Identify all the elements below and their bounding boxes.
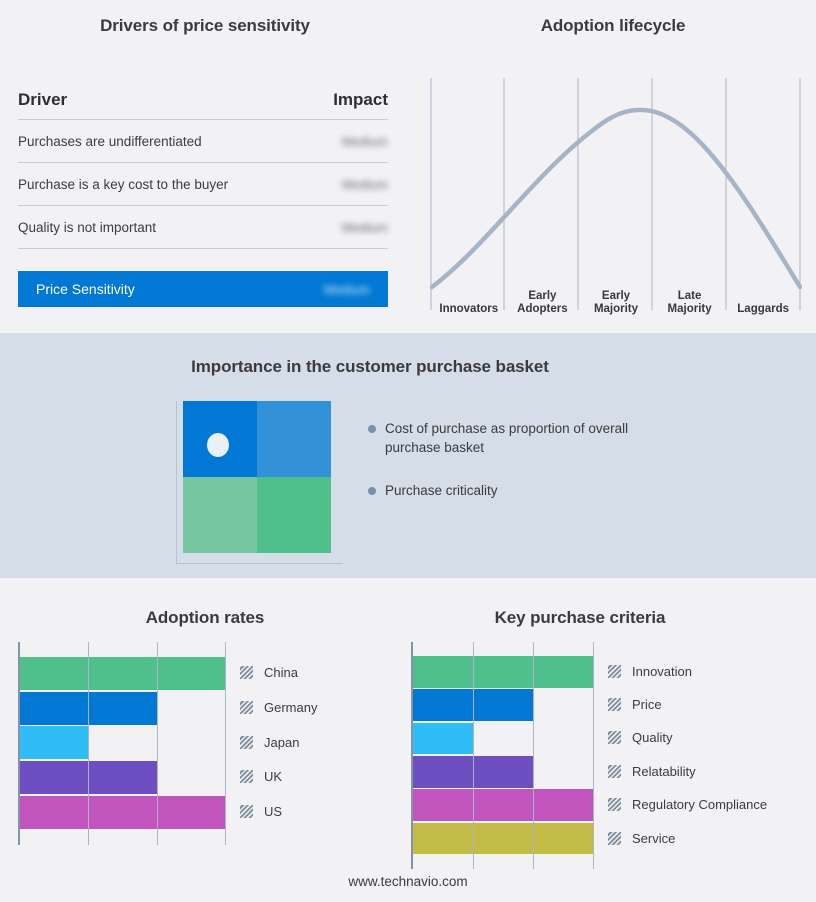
criteria-bars-layer — [413, 642, 591, 869]
drivers-table: Driver Impact Purchases are undifferenti… — [18, 90, 388, 249]
legend-swatch-icon — [608, 765, 621, 778]
adoption-bars-layer — [20, 642, 223, 845]
legend-item: Quality — [608, 730, 672, 745]
bar — [413, 789, 593, 821]
bell-curve-svg — [430, 78, 802, 310]
bar — [413, 823, 593, 855]
legend-item: US — [240, 804, 282, 819]
quadrant-chart-frame — [176, 401, 343, 564]
lifecycle-stage-early-adopters: EarlyAdopters — [506, 290, 580, 318]
legend-label: Japan — [264, 735, 299, 750]
column-header-driver: Driver — [18, 90, 308, 110]
impact-value: Medium — [308, 134, 388, 149]
quadrant-bottom-left — [183, 477, 257, 553]
driver-label: Purchase is a key cost to the buyer — [18, 177, 308, 192]
quadrant-marker-dot — [207, 433, 229, 457]
legend-item: UK — [240, 769, 282, 784]
quadrant-top-left — [183, 401, 257, 477]
summary-row-label: Price Sensitivity — [36, 281, 290, 297]
legend-label: Regulatory Compliance — [632, 797, 767, 812]
legend-label: UK — [264, 769, 282, 784]
quadrant-bottom-right — [257, 477, 331, 553]
price-sensitivity-summary-row: Price Sensitivity Medium — [18, 271, 388, 307]
gridline — [473, 642, 474, 869]
list-item: Cost of purchase as proportion of overal… — [368, 419, 658, 457]
stage-label-line: Laggards — [737, 303, 789, 315]
summary-row-impact: Medium — [290, 282, 370, 297]
legend-item: China — [240, 665, 298, 680]
criteria-plot-area — [411, 642, 591, 869]
adoption-lifecycle-panel: Adoption lifecycle Innovators EarlyAdopt… — [410, 0, 816, 333]
table-row: Purchases are undifferentiated Medium — [18, 120, 388, 163]
adoption-rates-panel: Adoption rates ChinaGermanyJapanUKUS — [0, 578, 410, 902]
bar — [20, 657, 225, 690]
driver-label: Purchases are undifferentiated — [18, 134, 308, 149]
legend-item: Price — [608, 697, 662, 712]
quadrant-grid — [183, 401, 331, 553]
driver-label: Quality is not important — [18, 220, 308, 235]
table-row: Quality is not important Medium — [18, 206, 388, 249]
drivers-table-header: Driver Impact — [18, 90, 388, 120]
impact-value: Medium — [308, 220, 388, 235]
legend-item: Regulatory Compliance — [608, 797, 767, 812]
legend-swatch-icon — [240, 736, 253, 749]
basket-legend-label: Cost of purchase as proportion of overal… — [385, 419, 641, 457]
gridline — [88, 642, 89, 845]
lifecycle-stage-innovators: Innovators — [432, 303, 506, 318]
criteria-legend: InnovationPriceQualityRelatabilityRegula… — [608, 642, 808, 869]
legend-label: Relatability — [632, 764, 696, 779]
bullet-dot-icon — [368, 425, 376, 433]
column-header-impact: Impact — [308, 90, 388, 110]
adoption-plot-area — [18, 642, 223, 845]
legend-label: US — [264, 804, 282, 819]
basket-panel-title: Importance in the customer purchase bask… — [0, 357, 740, 377]
legend-swatch-icon — [240, 805, 253, 818]
adoption-rates-chart — [18, 642, 223, 845]
adoption-curve — [432, 110, 800, 287]
gridline — [225, 642, 226, 845]
legend-label: Price — [632, 697, 662, 712]
legend-label: China — [264, 665, 298, 680]
legend-item: Japan — [240, 735, 299, 750]
legend-label: Quality — [632, 730, 672, 745]
bullet-dot-icon — [368, 487, 376, 495]
purchase-basket-panel: Importance in the customer purchase bask… — [0, 333, 816, 578]
lifecycle-stage-laggards: Laggards — [726, 303, 800, 318]
adoption-rates-legend: ChinaGermanyJapanUKUS — [240, 642, 390, 845]
basket-legend-label: Purchase criticality — [385, 481, 498, 500]
criteria-chart — [411, 642, 591, 869]
legend-item: Innovation — [608, 664, 692, 679]
legend-swatch-icon — [608, 832, 621, 845]
legend-label: Service — [632, 831, 675, 846]
drivers-panel: Drivers of price sensitivity Driver Impa… — [0, 0, 410, 333]
adoption-rates-title: Adoption rates — [0, 608, 410, 628]
stage-label-line: Innovators — [439, 303, 498, 315]
legend-item: Germany — [240, 700, 317, 715]
legend-swatch-icon — [608, 665, 621, 678]
legend-item: Service — [608, 831, 675, 846]
legend-swatch-icon — [608, 798, 621, 811]
legend-swatch-icon — [240, 770, 253, 783]
bar — [413, 656, 593, 688]
lifecycle-stage-early-majority: EarlyMajority — [579, 290, 653, 318]
legend-swatch-icon — [608, 731, 621, 744]
legend-label: Innovation — [632, 664, 692, 679]
impact-value: Medium — [308, 177, 388, 192]
list-item: Purchase criticality — [368, 481, 658, 500]
legend-swatch-icon — [608, 698, 621, 711]
bar — [20, 726, 88, 759]
lifecycle-stage-late-majority: LateMajority — [653, 290, 727, 318]
legend-item: Relatability — [608, 764, 696, 779]
table-row: Purchase is a key cost to the buyer Medi… — [18, 163, 388, 206]
lifecycle-curve-chart — [430, 78, 802, 310]
lifecycle-panel-title: Adoption lifecycle — [410, 16, 816, 36]
criteria-title: Key purchase criteria — [400, 608, 760, 628]
key-purchase-criteria-panel: Key purchase criteria InnovationPriceQua… — [400, 578, 816, 902]
gridline — [533, 642, 534, 869]
legend-swatch-icon — [240, 701, 253, 714]
footer-url: www.technavio.com — [0, 874, 816, 889]
drivers-panel-title: Drivers of price sensitivity — [0, 16, 410, 36]
basket-legend: Cost of purchase as proportion of overal… — [368, 419, 658, 524]
legend-swatch-icon — [240, 666, 253, 679]
bar — [413, 723, 473, 755]
quadrant-top-right — [257, 401, 331, 477]
legend-label: Germany — [264, 700, 317, 715]
gridline — [157, 642, 158, 845]
bar — [20, 796, 225, 829]
gridline — [593, 642, 594, 869]
lifecycle-stage-labels: Innovators EarlyAdopters EarlyMajority L… — [432, 278, 800, 318]
